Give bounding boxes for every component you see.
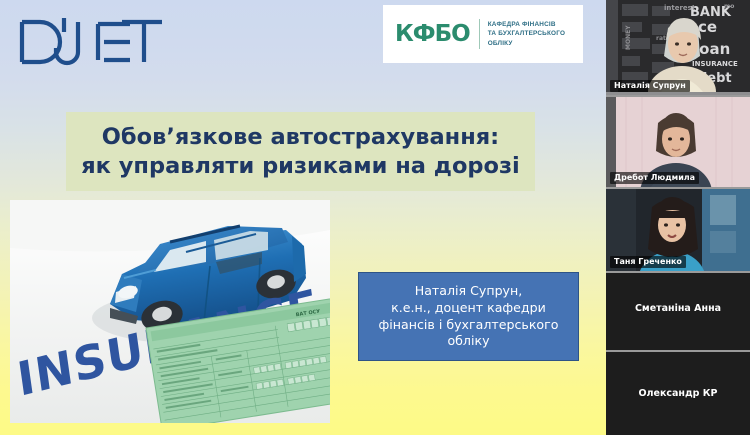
slide-title-line-1: Обов’язкове автострахування: <box>102 123 499 152</box>
speaker-info-text: Наталія Супрун, к.е.н., доцент кафедри ф… <box>379 283 559 349</box>
svg-text:ce: ce <box>698 18 717 36</box>
slide-title-line-2: як управляти ризиками на дорозі <box>81 152 520 181</box>
participant-tile-2[interactable]: Дребот Людмила <box>606 97 750 188</box>
video-conference-screen: КФБО КАФЕДРА ФІНАНСІВ ТА БУХГАЛТЕРСЬКОГО… <box>0 0 750 435</box>
participant-name-1: Наталія Супрун <box>610 80 690 92</box>
participant-tile-5[interactable]: Олександр КР <box>606 352 750 435</box>
kfbo-divider <box>479 19 480 49</box>
duet-logo-icon <box>12 12 172 72</box>
shared-slide: КФБО КАФЕДРА ФІНАНСІВ ТА БУХГАЛТЕРСЬКОГО… <box>0 0 606 435</box>
participant-tile-1[interactable]: BANK ce loan INSURANCE debt interest mo … <box>606 0 750 96</box>
speaker-info-box: Наталія Супрун, к.е.н., доцент кафедри ф… <box>358 272 579 361</box>
kfbo-mark: КФБО <box>395 23 470 46</box>
participant-name-4: Сметаніна Анна <box>606 303 750 314</box>
insurance-photo-graphic: INSURANCE ВАТ ОСУ <box>10 200 330 423</box>
svg-text:interest: interest <box>664 4 696 12</box>
svg-text:INSURANCE: INSURANCE <box>692 60 738 68</box>
department-logo-card: КФБО КАФЕДРА ФІНАНСІВ ТА БУХГАЛТЕРСЬКОГО… <box>383 5 583 63</box>
participant-name-5: Олександр КР <box>606 388 750 399</box>
svg-text:MONEY: MONEY <box>625 25 632 50</box>
duet-logo <box>12 12 172 72</box>
participant-tile-4[interactable]: Сметаніна Анна <box>606 273 750 352</box>
participant-name-3: Таня Греченко <box>610 256 686 268</box>
participant-panel: BANK ce loan INSURANCE debt interest mo … <box>606 0 750 435</box>
participant-tile-3[interactable]: Таня Греченко <box>606 189 750 272</box>
svg-text:mo: mo <box>724 3 734 10</box>
participant-name-2: Дребот Людмила <box>610 172 699 184</box>
kfbo-subtitle: КАФЕДРА ФІНАНСІВ ТА БУХГАЛТЕРСЬКОГО ОБЛІ… <box>488 20 565 48</box>
slide-title-band: Обов’язкове автострахування: як управлят… <box>66 112 535 191</box>
insurance-photo: INSURANCE ВАТ ОСУ <box>10 200 330 423</box>
